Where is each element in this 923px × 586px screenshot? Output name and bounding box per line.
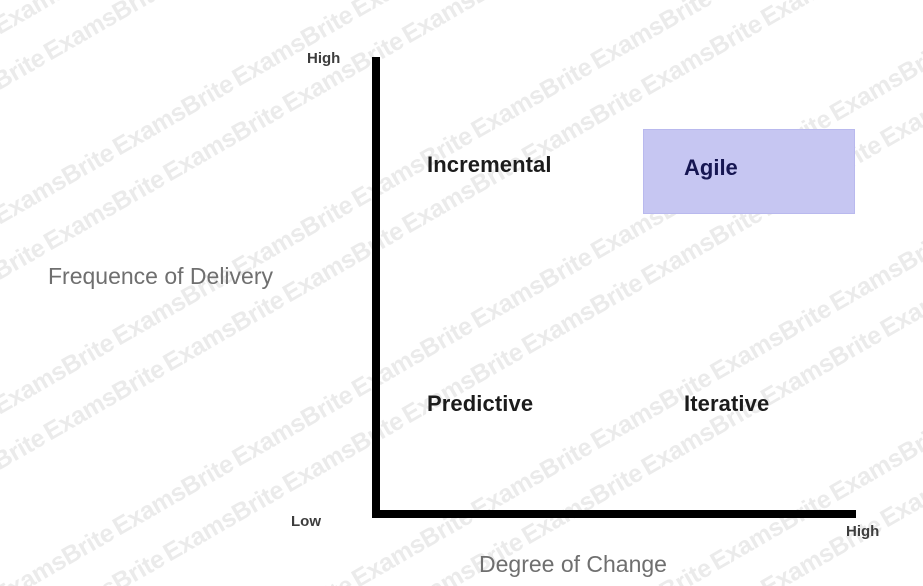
x-axis-line — [372, 510, 856, 518]
quadrant-label-iterative: Iterative — [684, 391, 769, 417]
quadrant-label-agile: Agile — [684, 155, 738, 181]
y-axis-title: Frequence of Delivery — [48, 263, 273, 290]
y-axis-line — [372, 57, 380, 518]
x-axis-high-tick-label: High — [846, 523, 879, 540]
quadrant-label-predictive: Predictive — [427, 391, 533, 417]
quadrant-highlight-box-agile: Agile — [643, 129, 855, 214]
quadrant-chart-canvas: ExamsBriteExamsBriteExamsBriteExamsBrite… — [0, 0, 923, 586]
quadrant-label-incremental: Incremental — [427, 152, 552, 178]
y-axis-high-tick-label: High — [307, 50, 340, 67]
chart-layer: High Low High Incremental Agile Predicti… — [0, 0, 923, 586]
x-axis-title: Degree of Change — [479, 551, 667, 578]
x-axis-low-tick-label: Low — [291, 513, 321, 530]
